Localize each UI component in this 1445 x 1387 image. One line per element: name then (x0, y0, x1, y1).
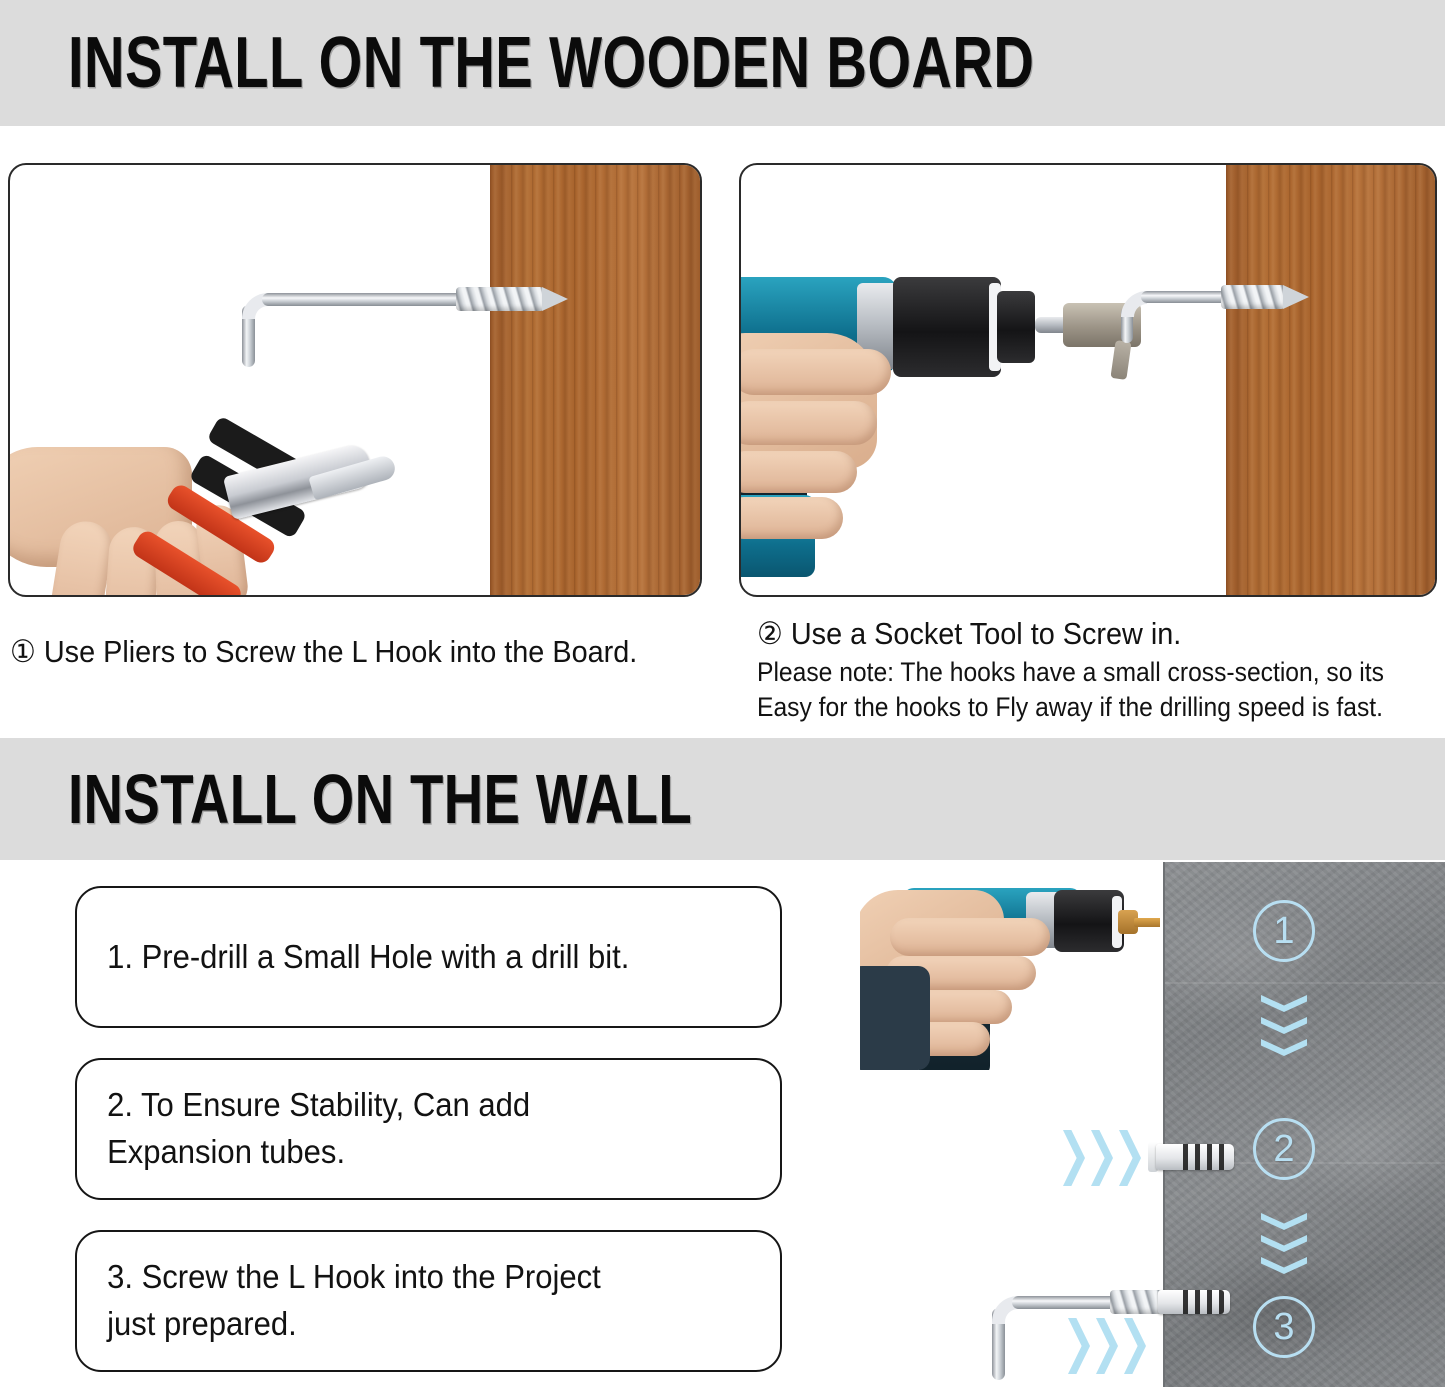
photo-drill-socket-tool (739, 163, 1437, 597)
wall-step-box-1: 1. Pre-drill a Small Hole with a drill b… (75, 886, 782, 1028)
finger (739, 497, 843, 539)
chevron-down-arrows (1261, 1213, 1307, 1279)
l-hook-thread (456, 287, 544, 311)
l-hook-shank (1012, 1296, 1120, 1309)
wooden-board-surface (490, 165, 700, 595)
finger (739, 349, 891, 395)
section-title-wall: INSTALL ON THE WALL (68, 759, 692, 839)
wooden-board-surface (1226, 165, 1435, 595)
photo-pliers-l-hook (8, 163, 702, 597)
wall-seam (1165, 982, 1445, 984)
drill-bit (1134, 918, 1160, 927)
caption-step-2-note-line-2: Easy for the hooks to Fly away if the dr… (757, 690, 1384, 725)
drill-chuck (997, 291, 1035, 363)
wall-step-text-2: 2. To Ensure Stability, Can add Expansio… (77, 1082, 545, 1176)
expansion-tube-ribs (1176, 1290, 1224, 1314)
wall-step-text-1: 1. Pre-drill a Small Hole with a drill b… (77, 934, 644, 981)
wall-marker-2: 2 (1253, 1118, 1315, 1180)
expansion-tube-ribs (1176, 1144, 1228, 1170)
chevron-down-arrows (1261, 995, 1307, 1061)
section-header-wall: INSTALL ON THE WALL (0, 738, 1445, 860)
caption-step-2-note-line-1: Please note: The hooks have a small cros… (757, 655, 1384, 690)
chevron-right-arrows (1063, 1130, 1147, 1186)
l-hook-shank (262, 293, 468, 306)
photo-hand-holding-drill (860, 870, 1160, 1070)
l-hook-tip (1283, 285, 1309, 309)
finger (739, 401, 877, 445)
caption-step-2-title: ② Use a Socket Tool to Screw in. (757, 616, 1181, 651)
finger (739, 451, 857, 493)
wall-step-box-3: 3. Screw the L Hook into the Project jus… (75, 1230, 782, 1372)
wall-step-box-2: 2. To Ensure Stability, Can add Expansio… (75, 1058, 782, 1200)
finger (890, 918, 1050, 956)
l-hook-thread (1221, 285, 1285, 309)
section-header-wooden-board: INSTALL ON THE WOODEN BOARD (0, 0, 1445, 126)
drill-clutch-ring (893, 277, 1001, 377)
wall-step-text-3: 3. Screw the L Hook into the Project jus… (77, 1254, 616, 1348)
chevron-right-arrows (1068, 1318, 1152, 1374)
caption-step-2: ② Use a Socket Tool to Screw in. Please … (757, 614, 1384, 725)
l-hook-tip (542, 287, 568, 311)
caption-step-1: ① Use Pliers to Screw the L Hook into th… (10, 632, 637, 673)
sleeve (860, 966, 930, 1070)
wall-marker-1: 1 (1253, 900, 1315, 962)
instruction-infographic: INSTALL ON THE WOODEN BOARD (0, 0, 1445, 1387)
wall-marker-3: 3 (1253, 1296, 1315, 1358)
section-title-wooden-board: INSTALL ON THE WOODEN BOARD (68, 22, 1034, 104)
